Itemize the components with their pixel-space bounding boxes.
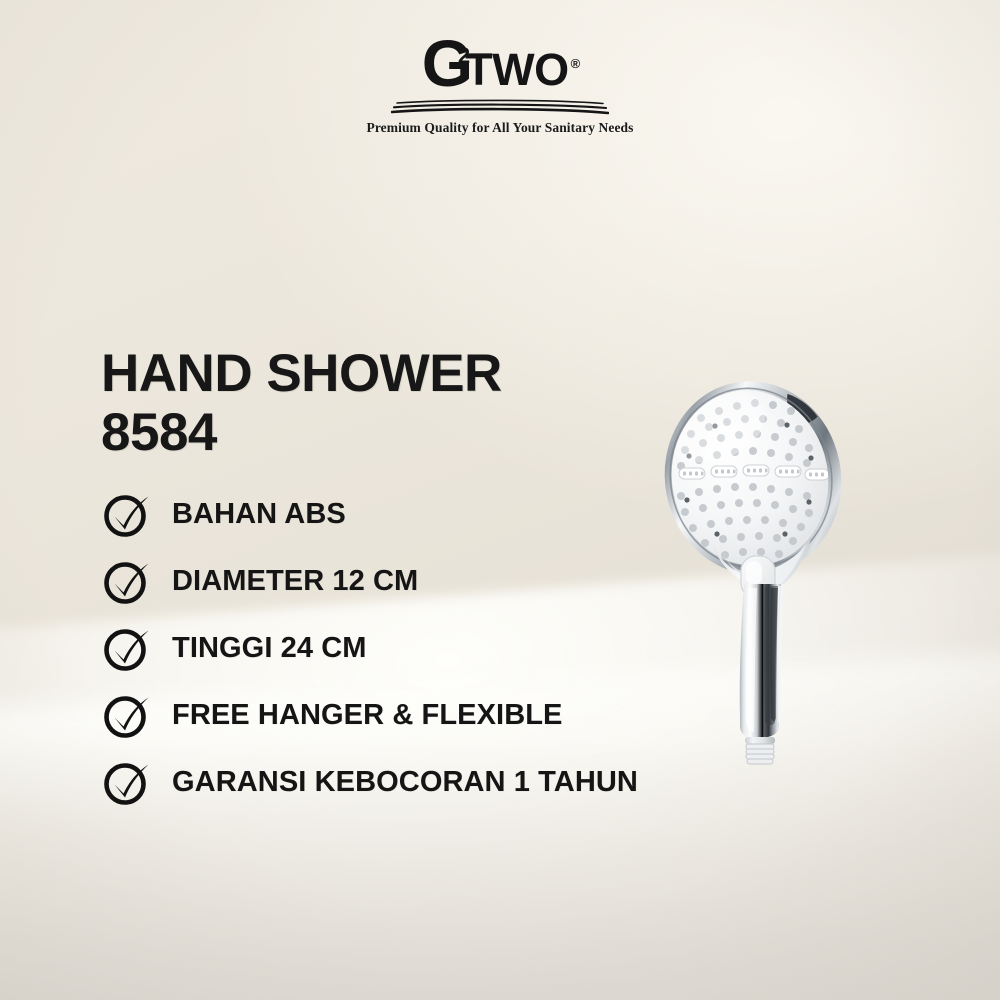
list-item: BAHAN ABS bbox=[101, 481, 638, 548]
brand-tagline: Premium Quality for All Your Sanitary Ne… bbox=[366, 120, 633, 136]
logo-word-two: TWO bbox=[465, 47, 568, 92]
logo-g-mark: G 2 bbox=[422, 33, 471, 94]
registered-trademark-icon: ® bbox=[571, 57, 581, 70]
page-title: HAND SHOWER 8584 bbox=[101, 344, 502, 463]
feature-label: DIAMETER 12 CM bbox=[172, 565, 418, 598]
brand-logo: G 2 TWO ® bbox=[422, 34, 578, 94]
check-circle-icon bbox=[101, 689, 153, 741]
check-circle-icon bbox=[101, 555, 153, 607]
product-model-number: 8584 bbox=[101, 403, 502, 462]
feature-label: TINGGI 24 CM bbox=[172, 632, 367, 665]
check-circle-icon bbox=[101, 622, 153, 674]
product-image bbox=[645, 378, 875, 798]
feature-label: BAHAN ABS bbox=[172, 498, 346, 531]
check-circle-icon bbox=[101, 756, 153, 808]
product-title-line-1: HAND SHOWER bbox=[101, 344, 502, 403]
list-item: DIAMETER 12 CM bbox=[101, 548, 638, 615]
feature-label: FREE HANGER & FLEXIBLE bbox=[172, 699, 563, 732]
list-item: FREE HANGER & FLEXIBLE bbox=[101, 682, 638, 749]
logo-wave-rules-icon bbox=[391, 99, 609, 116]
list-item: TINGGI 24 CM bbox=[101, 615, 638, 682]
product-poster: G 2 TWO ® Premium Quality for All Your S… bbox=[0, 0, 1000, 1000]
list-item: GARANSI KEBOCORAN 1 TAHUN bbox=[101, 749, 638, 816]
check-circle-icon bbox=[101, 488, 153, 540]
feature-label: GARANSI KEBOCORAN 1 TAHUN bbox=[172, 766, 638, 799]
feature-list: BAHAN ABS DIAMETER 12 CM TINGGI 24 CM bbox=[101, 481, 638, 816]
brand-header: G 2 TWO ® Premium Quality for All Your S… bbox=[0, 34, 1000, 136]
